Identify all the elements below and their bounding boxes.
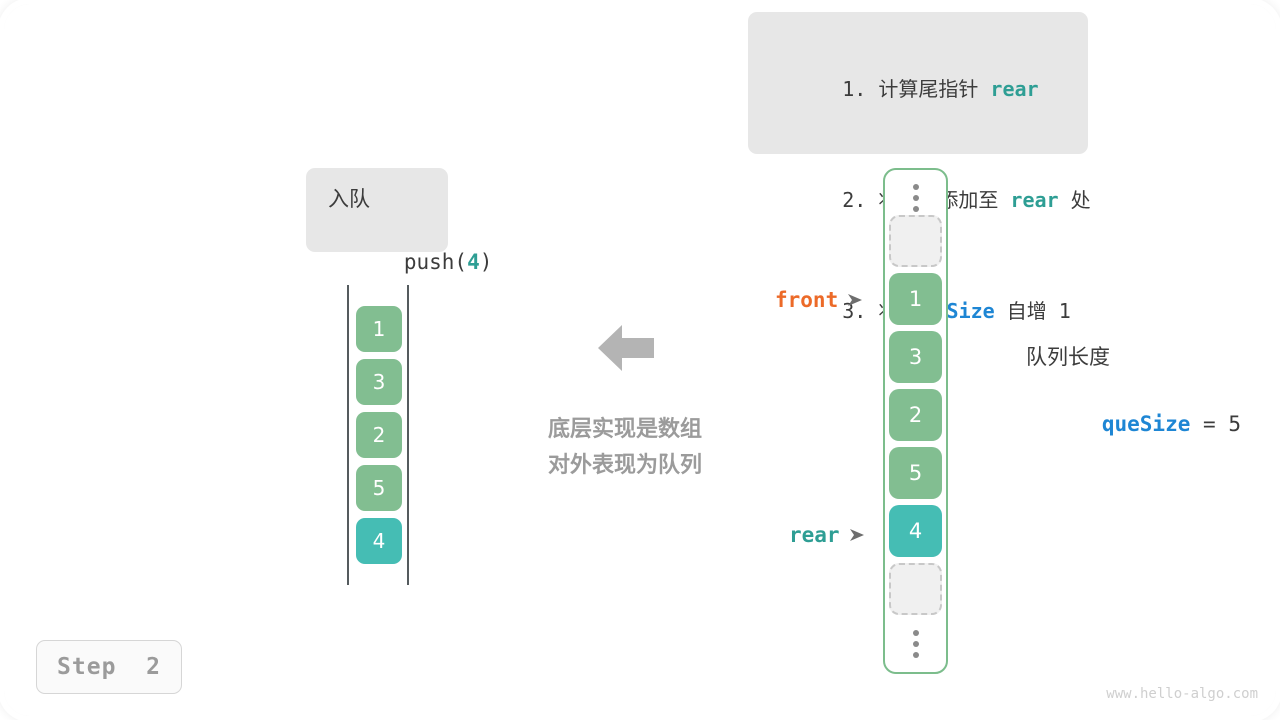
queue-cell-2: 2 xyxy=(356,412,402,458)
center-caption-line-2: 对外表现为队列 xyxy=(500,448,750,484)
center-caption: 底层实现是数组 对外表现为队列 xyxy=(500,412,750,484)
queue-cell-4: 4 xyxy=(356,518,402,564)
front-pointer-arrow-icon xyxy=(847,293,863,307)
queue-rail-left xyxy=(347,285,349,585)
front-pointer: front xyxy=(775,288,863,312)
push-card-title: 入队 xyxy=(328,184,448,214)
push-operation-card: 入队 push(4) xyxy=(306,168,448,252)
instruction-2-token-rear: rear xyxy=(1010,188,1058,212)
array-cell-4-value: 4 xyxy=(909,519,922,543)
array-cell-3-value: 5 xyxy=(909,461,922,485)
array-top-ellipsis-icon xyxy=(913,184,919,212)
queue-cell-3-value: 5 xyxy=(373,476,386,500)
instruction-2-index: 2. xyxy=(842,188,878,212)
rear-pointer-arrow-icon xyxy=(849,528,865,542)
queue-cell-1-value: 3 xyxy=(373,370,386,394)
queue-rail-right xyxy=(407,285,409,585)
array-cell-2: 2 xyxy=(889,389,942,441)
push-code-suffix: ) xyxy=(480,250,493,274)
left-arrow-icon xyxy=(596,320,656,376)
queue-cell-4-value: 4 xyxy=(373,529,386,553)
array-cell-3: 5 xyxy=(889,447,942,499)
instruction-line-1: 1. 计算尾指针 rear xyxy=(770,34,1088,145)
array-cell-0-value: 1 xyxy=(909,287,922,311)
underlying-array: 1 3 2 5 4 xyxy=(883,168,948,674)
front-pointer-label: front xyxy=(775,288,838,312)
instruction-3-text-b: 自增 1 xyxy=(995,299,1071,323)
step-badge: Step 2 xyxy=(36,640,182,694)
watermark: www.hello-algo.com xyxy=(1106,686,1258,702)
array-cell-empty-top xyxy=(889,215,942,267)
instruction-1-token-rear: rear xyxy=(990,77,1038,101)
quesize-name: queSize xyxy=(1102,412,1191,436)
push-code-prefix: push( xyxy=(404,250,467,274)
queue-cell-3: 5 xyxy=(356,465,402,511)
queue-cell-0: 1 xyxy=(356,306,402,352)
quesize-value: 5 xyxy=(1228,412,1241,436)
diagram-canvas: 1. 计算尾指针 rear 2. 将元素添加至 rear 处 3. 将 queS… xyxy=(0,0,1280,720)
quesize-caption: 队列长度 xyxy=(1026,341,1241,373)
quesize-operator: = xyxy=(1190,412,1228,436)
queue-cell-2-value: 2 xyxy=(373,423,386,447)
center-caption-line-1: 底层实现是数组 xyxy=(500,412,750,448)
array-cell-4: 4 xyxy=(889,505,942,557)
array-cell-2-value: 2 xyxy=(909,403,922,427)
instruction-1-text: 计算尾指针 xyxy=(878,77,990,101)
array-bottom-ellipsis-icon xyxy=(913,630,919,658)
quesize-annotation: 队列长度 queSize = 5 xyxy=(1026,341,1241,475)
instruction-2-text-b: 处 xyxy=(1059,188,1091,212)
rear-pointer: rear xyxy=(789,523,865,547)
push-code-value: 4 xyxy=(467,250,480,274)
array-cell-1: 3 xyxy=(889,331,942,383)
queue-cell-0-value: 1 xyxy=(373,317,386,341)
array-cell-empty-bottom xyxy=(889,563,942,615)
array-cell-1-value: 3 xyxy=(909,345,922,369)
queue-cell-1: 3 xyxy=(356,359,402,405)
rear-pointer-label: rear xyxy=(789,523,840,547)
quesize-expression: queSize = 5 xyxy=(1026,373,1241,475)
instruction-card: 1. 计算尾指针 rear 2. 将元素添加至 rear 处 3. 将 queS… xyxy=(748,12,1088,154)
instruction-1-index: 1. xyxy=(842,77,878,101)
logical-queue: 1 3 2 5 4 xyxy=(340,280,420,595)
array-cell-0: 1 xyxy=(889,273,942,325)
